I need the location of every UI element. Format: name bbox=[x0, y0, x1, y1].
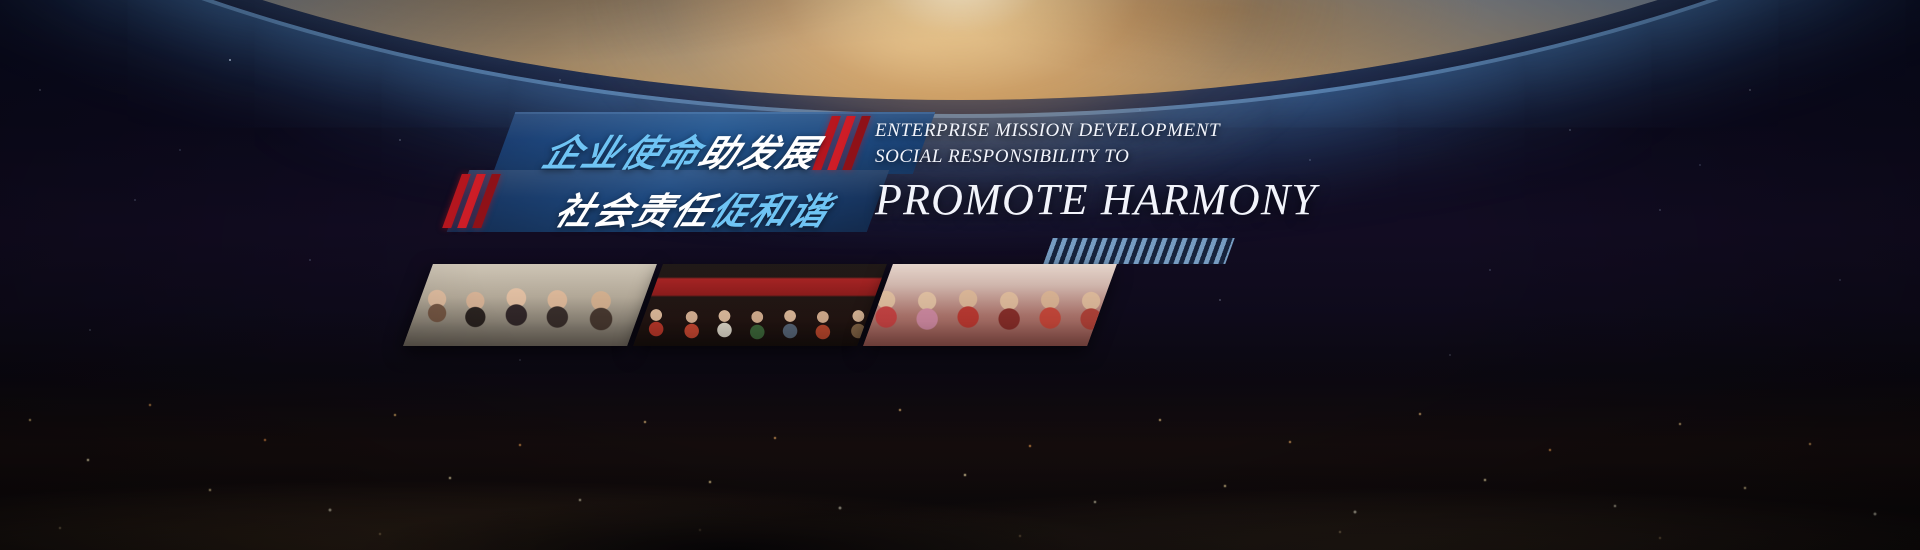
promo-banner: 企业使命助发展 社会责任促和谐 ENTERPRISE MISSION DEVEL… bbox=[0, 0, 1920, 550]
english-slogan-block: ENTERPRISE MISSION DEVELOPMENT SOCIAL RE… bbox=[875, 118, 1515, 228]
photo-strip bbox=[403, 264, 1117, 346]
photo-women-and-children-at-table bbox=[403, 264, 657, 346]
headline-line-1: 企业使命助发展 bbox=[536, 123, 829, 177]
english-slogan-line-3: PROMOTE HARMONY bbox=[875, 172, 1515, 228]
headline-line-2-white: 社会责任 bbox=[549, 191, 720, 232]
headline-line-2: 社会责任促和谐 bbox=[548, 181, 841, 235]
english-slogan-line-1: ENTERPRISE MISSION DEVELOPMENT bbox=[875, 118, 1515, 144]
photo-volunteers-with-red-sashes bbox=[863, 264, 1117, 346]
english-slogan-line-2: SOCIAL RESPONSIBILITY TO bbox=[875, 144, 1515, 170]
headline-line-2-blue: 促和谐 bbox=[705, 191, 837, 232]
photo-stage-award-ceremony bbox=[633, 264, 887, 346]
headline-line-1-white: 助发展 bbox=[693, 133, 825, 174]
city-foreground-shadow bbox=[0, 460, 1920, 550]
headline-line-1-blue: 企业使命 bbox=[537, 133, 708, 174]
blue-stripe-block bbox=[1043, 238, 1234, 264]
